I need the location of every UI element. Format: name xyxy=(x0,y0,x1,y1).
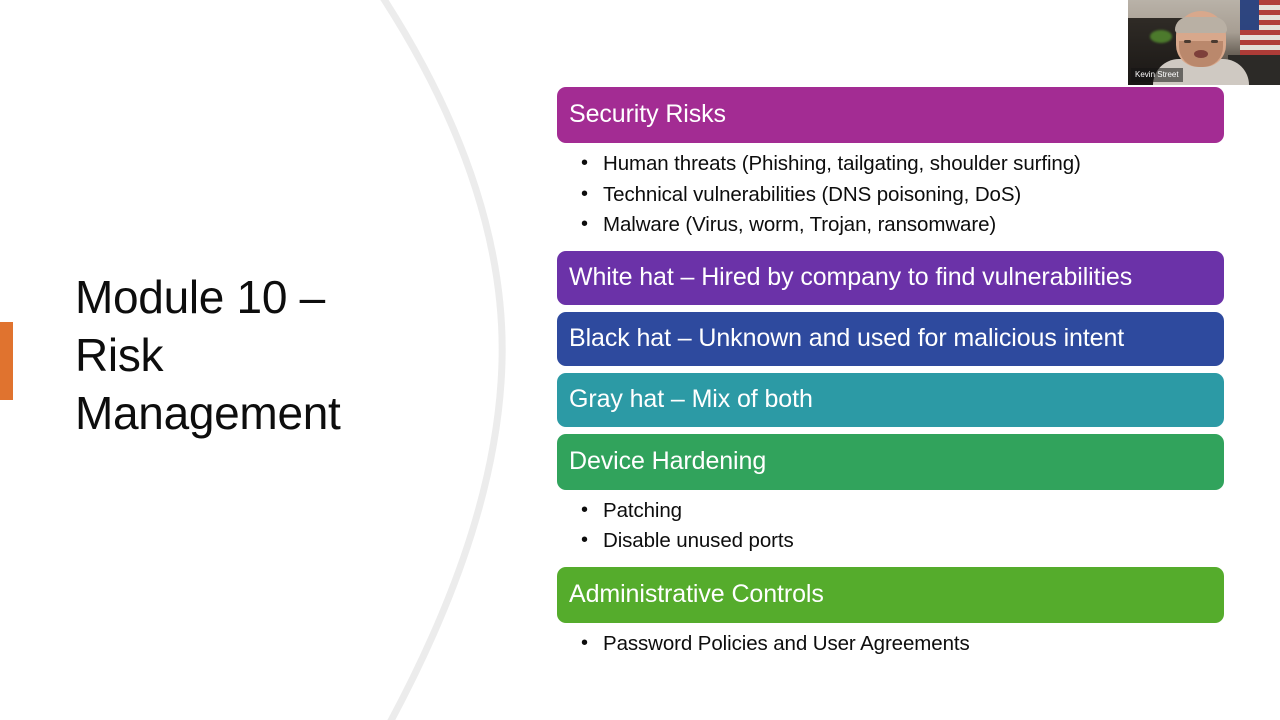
bullet-list-administrative-controls: Password Policies and User Agreements xyxy=(557,623,1224,665)
participant-eye-right xyxy=(1211,40,1218,43)
participant-mouth xyxy=(1194,50,1208,58)
spacer xyxy=(557,427,1224,434)
section-heading-gray-hat: Gray hat – Mix of both xyxy=(557,373,1224,427)
participant-headband xyxy=(1175,17,1227,33)
section-heading-black-hat: Black hat – Unknown and used for malicio… xyxy=(557,312,1224,366)
section-heading-device-hardening: Device Hardening xyxy=(557,434,1224,490)
section-heading-administrative-controls: Administrative Controls xyxy=(557,567,1224,623)
section-heading-white-hat: White hat – Hired by company to find vul… xyxy=(557,251,1224,305)
spacer xyxy=(557,562,1224,567)
spacer xyxy=(557,246,1224,251)
bullet-list-device-hardening: Patching Disable unused ports xyxy=(557,490,1224,562)
orange-accent-bar xyxy=(0,322,13,400)
list-item: Technical vulnerabilities (DNS poisoning… xyxy=(581,180,1224,211)
spacer xyxy=(557,366,1224,373)
webcam-participant-name: Kevin Street xyxy=(1131,68,1183,82)
list-item: Disable unused ports xyxy=(581,526,1224,557)
participant-eye-left xyxy=(1184,40,1191,43)
spacer xyxy=(557,305,1224,312)
list-item: Password Policies and User Agreements xyxy=(581,629,1224,660)
webcam-video-tile[interactable]: Kevin Street xyxy=(1128,0,1280,85)
list-item: Malware (Virus, worm, Trojan, ransomware… xyxy=(581,210,1224,241)
presentation-slide: Module 10 – Risk Management Security Ris… xyxy=(0,0,1280,720)
bullet-list-security-risks: Human threats (Phishing, tailgating, sho… xyxy=(557,143,1224,246)
list-item: Patching xyxy=(581,496,1224,527)
section-heading-security-risks: Security Risks xyxy=(557,87,1224,143)
content-column: Security Risks Human threats (Phishing, … xyxy=(557,87,1224,664)
list-item: Human threats (Phishing, tailgating, sho… xyxy=(581,149,1224,180)
slide-title: Module 10 – Risk Management xyxy=(75,268,405,442)
